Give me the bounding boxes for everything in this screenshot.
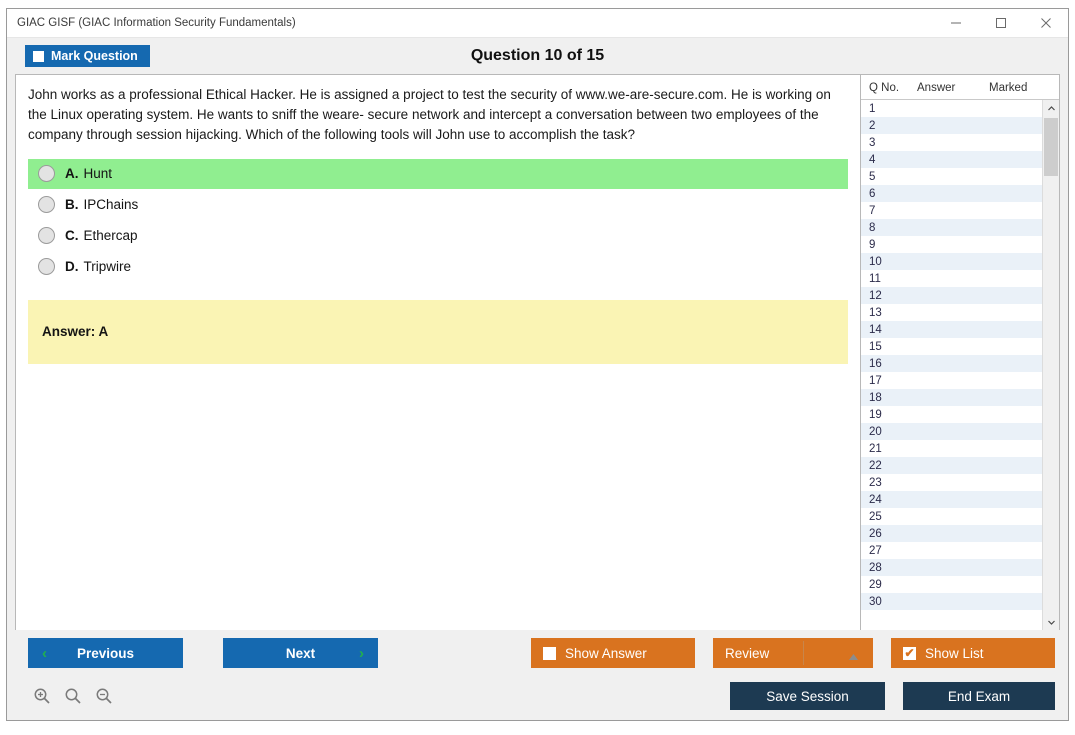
table-row[interactable]: 19: [861, 406, 1042, 423]
question-text: John works as a professional Ethical Hac…: [28, 85, 848, 145]
cell-qno: 2: [861, 120, 917, 132]
option-row-a[interactable]: A. Hunt: [28, 159, 848, 189]
footer-row-primary: ‹ Previous Next › Show Answer Review: [15, 630, 1060, 676]
table-row[interactable]: 18: [861, 389, 1042, 406]
table-row[interactable]: 27: [861, 542, 1042, 559]
cell-qno: 12: [861, 290, 917, 302]
table-row[interactable]: 8: [861, 219, 1042, 236]
table-row[interactable]: 4: [861, 151, 1042, 168]
table-row[interactable]: 17: [861, 372, 1042, 389]
list-scrollbar[interactable]: [1042, 100, 1059, 630]
table-row[interactable]: 12: [861, 287, 1042, 304]
cell-qno: 26: [861, 528, 917, 540]
cell-qno: 1: [861, 103, 917, 115]
table-row[interactable]: 28: [861, 559, 1042, 576]
option-text: Tripwire: [84, 259, 132, 274]
footer-bar: ‹ Previous Next › Show Answer Review: [7, 630, 1068, 720]
zoom-reset-icon[interactable]: [62, 685, 84, 707]
show-answer-label: Show Answer: [565, 646, 647, 661]
column-header-marked: Marked: [989, 82, 1059, 94]
table-row[interactable]: 16: [861, 355, 1042, 372]
cell-qno: 8: [861, 222, 917, 234]
app-root: GIAC GISF (GIAC Information Security Fun…: [0, 0, 1075, 735]
table-row[interactable]: 10: [861, 253, 1042, 270]
cell-qno: 7: [861, 205, 917, 217]
caret-up-icon: [848, 649, 859, 664]
table-row[interactable]: 14: [861, 321, 1042, 338]
cell-qno: 6: [861, 188, 917, 200]
show-answer-button[interactable]: Show Answer: [531, 638, 695, 668]
cell-qno: 27: [861, 545, 917, 557]
next-label: Next: [286, 646, 315, 661]
cell-qno: 15: [861, 341, 917, 353]
cell-qno: 3: [861, 137, 917, 149]
maximize-icon: [995, 17, 1007, 29]
cell-qno: 9: [861, 239, 917, 251]
cell-qno: 20: [861, 426, 917, 438]
cell-qno: 5: [861, 171, 917, 183]
mark-question-button[interactable]: Mark Question: [25, 45, 150, 67]
cell-qno: 21: [861, 443, 917, 455]
table-row[interactable]: 6: [861, 185, 1042, 202]
next-button[interactable]: Next ›: [223, 638, 378, 668]
cell-qno: 22: [861, 460, 917, 472]
minimize-icon: [950, 17, 962, 29]
table-row[interactable]: 20: [861, 423, 1042, 440]
answer-label: Answer: A: [42, 324, 108, 339]
mark-question-checkbox[interactable]: [33, 51, 44, 62]
table-row[interactable]: 9: [861, 236, 1042, 253]
table-row[interactable]: 23: [861, 474, 1042, 491]
question-rows: 1234567891011121314151617181920212223242…: [861, 100, 1042, 630]
option-text: IPChains: [84, 197, 139, 212]
table-row[interactable]: 26: [861, 525, 1042, 542]
dropdown-divider: [803, 641, 804, 665]
table-row[interactable]: 3: [861, 134, 1042, 151]
option-row-c[interactable]: C. Ethercap: [28, 221, 848, 251]
show-list-label: Show List: [925, 646, 984, 661]
option-row-d[interactable]: D. Tripwire: [28, 252, 848, 282]
question-list-panel: Q No. Answer Marked 12345678910111213141…: [860, 75, 1059, 630]
scrollbar-thumb[interactable]: [1044, 118, 1058, 176]
cell-qno: 4: [861, 154, 917, 166]
scroll-up-button[interactable]: [1043, 100, 1059, 116]
mark-question-label: Mark Question: [51, 49, 138, 63]
table-row[interactable]: 21: [861, 440, 1042, 457]
column-header-qno: Q No.: [861, 82, 917, 94]
table-row[interactable]: 29: [861, 576, 1042, 593]
table-row[interactable]: 24: [861, 491, 1042, 508]
end-exam-label: End Exam: [948, 689, 1010, 704]
cell-qno: 14: [861, 324, 917, 336]
table-row[interactable]: 2: [861, 117, 1042, 134]
save-session-label: Save Session: [766, 689, 849, 704]
radio-icon[interactable]: [38, 165, 55, 182]
cell-qno: 13: [861, 307, 917, 319]
zoom-out-icon[interactable]: [93, 685, 115, 707]
cell-qno: 29: [861, 579, 917, 591]
review-dropdown[interactable]: Review: [713, 638, 873, 668]
cell-qno: 28: [861, 562, 917, 574]
previous-button[interactable]: ‹ Previous: [28, 638, 183, 668]
table-row[interactable]: 15: [861, 338, 1042, 355]
cell-qno: 11: [861, 273, 917, 285]
show-list-checkbox[interactable]: ✔: [903, 647, 916, 660]
chevron-up-icon: [1047, 104, 1056, 113]
previous-label: Previous: [77, 646, 134, 661]
cell-qno: 17: [861, 375, 917, 387]
save-session-button[interactable]: Save Session: [730, 682, 885, 710]
cell-qno: 24: [861, 494, 917, 506]
page-title: Question 10 of 15: [7, 47, 1068, 65]
radio-icon[interactable]: [38, 258, 55, 275]
radio-icon[interactable]: [38, 227, 55, 244]
cell-qno: 16: [861, 358, 917, 370]
show-answer-checkbox[interactable]: [543, 647, 556, 660]
table-row[interactable]: 30: [861, 593, 1042, 610]
table-row[interactable]: 1: [861, 100, 1042, 117]
footer-row-secondary: Save Session End Exam: [15, 676, 1060, 716]
option-letter: C.: [65, 228, 79, 243]
column-header-answer: Answer: [917, 82, 989, 94]
option-text: Hunt: [84, 166, 113, 181]
chevron-right-icon: ›: [359, 645, 364, 662]
maximize-button[interactable]: [978, 10, 1023, 37]
option-text: Ethercap: [84, 228, 138, 243]
content-area: John works as a professional Ethical Hac…: [15, 74, 1060, 630]
chevron-left-icon: ‹: [42, 645, 47, 662]
option-letter: A.: [65, 166, 79, 181]
review-label: Review: [725, 646, 769, 661]
end-exam-button[interactable]: End Exam: [903, 682, 1055, 710]
zoom-in-icon[interactable]: [31, 685, 53, 707]
question-list-body: 1234567891011121314151617181920212223242…: [861, 100, 1059, 630]
table-row[interactable]: 25: [861, 508, 1042, 525]
title-bar: GIAC GISF (GIAC Information Security Fun…: [7, 9, 1068, 38]
check-icon: ✔: [904, 647, 914, 659]
header-bar: Mark Question Question 10 of 15: [7, 38, 1068, 74]
exam-window: GIAC GISF (GIAC Information Security Fun…: [6, 8, 1069, 721]
close-icon: [1040, 17, 1052, 29]
cell-qno: 25: [861, 511, 917, 523]
window-title: GIAC GISF (GIAC Information Security Fun…: [7, 17, 296, 29]
table-row[interactable]: 5: [861, 168, 1042, 185]
cell-qno: 18: [861, 392, 917, 404]
question-list-header: Q No. Answer Marked: [861, 75, 1059, 100]
option-letter: B.: [65, 197, 79, 212]
answer-banner: Answer: A: [28, 300, 848, 364]
radio-icon[interactable]: [38, 196, 55, 213]
table-row[interactable]: 7: [861, 202, 1042, 219]
close-button[interactable]: [1023, 10, 1068, 37]
option-row-b[interactable]: B. IPChains: [28, 190, 848, 220]
cell-qno: 19: [861, 409, 917, 421]
question-pane: John works as a professional Ethical Hac…: [16, 75, 860, 630]
zoom-controls: [31, 685, 115, 707]
cell-qno: 30: [861, 596, 917, 608]
table-row[interactable]: 22: [861, 457, 1042, 474]
minimize-button[interactable]: [933, 10, 978, 37]
cell-qno: 10: [861, 256, 917, 268]
table-row[interactable]: 11: [861, 270, 1042, 287]
chevron-down-icon: [1047, 618, 1056, 627]
scroll-down-button[interactable]: [1043, 614, 1059, 630]
option-letter: D.: [65, 259, 79, 274]
cell-qno: 23: [861, 477, 917, 489]
table-row[interactable]: 13: [861, 304, 1042, 321]
show-list-button[interactable]: ✔ Show List: [891, 638, 1055, 668]
